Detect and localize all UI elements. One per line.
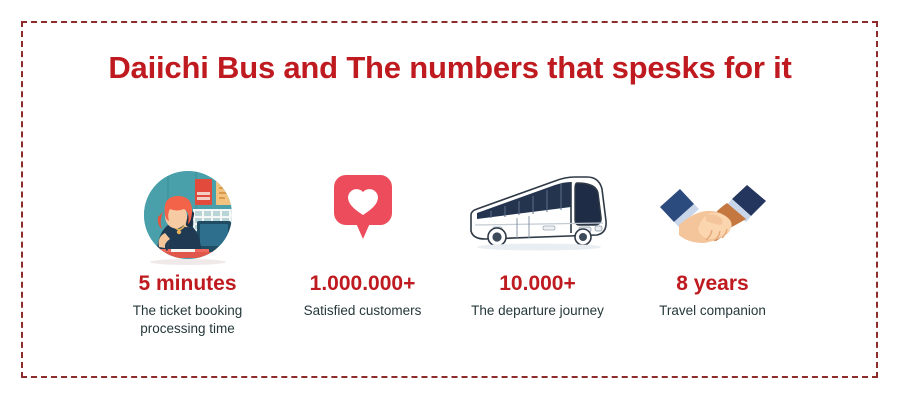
- stat-label-line2: processing time: [133, 320, 243, 338]
- page-title: Daiichi Bus and The numbers that spesks …: [0, 48, 900, 89]
- stat-label: Satisfied customers: [304, 302, 422, 320]
- stat-label: The departure journey: [471, 302, 604, 320]
- coach-bus-icon: [450, 163, 625, 265]
- call-center-agent-icon: [100, 163, 275, 265]
- stat-label-line1: Satisfied customers: [304, 302, 422, 320]
- stat-value: 1.000.000+: [310, 272, 416, 296]
- stat-item-travel-companion: 8 years Travel companion: [625, 163, 800, 320]
- stat-label-line1: Travel companion: [659, 302, 766, 320]
- infographic-banner: Daiichi Bus and The numbers that spesks …: [0, 0, 900, 400]
- stat-label: Travel companion: [659, 302, 766, 320]
- heart-like-bubble-icon: [275, 163, 450, 265]
- stat-value: 8 years: [676, 272, 748, 296]
- stat-item-satisfied-customers: 1.000.000+ Satisfied customers: [275, 163, 450, 320]
- stats-row: 5 minutes The ticket booking processing …: [100, 163, 800, 338]
- stat-label-line1: The departure journey: [471, 302, 604, 320]
- stat-label-line1: The ticket booking: [133, 302, 243, 320]
- stat-value: 10.000+: [499, 272, 576, 296]
- stat-value: 5 minutes: [138, 272, 236, 296]
- stat-item-departure-journey: 10.000+ The departure journey: [450, 163, 625, 320]
- handshake-icon: [625, 163, 800, 265]
- stat-label: The ticket booking processing time: [133, 302, 243, 338]
- stat-item-booking-time: 5 minutes The ticket booking processing …: [100, 163, 275, 338]
